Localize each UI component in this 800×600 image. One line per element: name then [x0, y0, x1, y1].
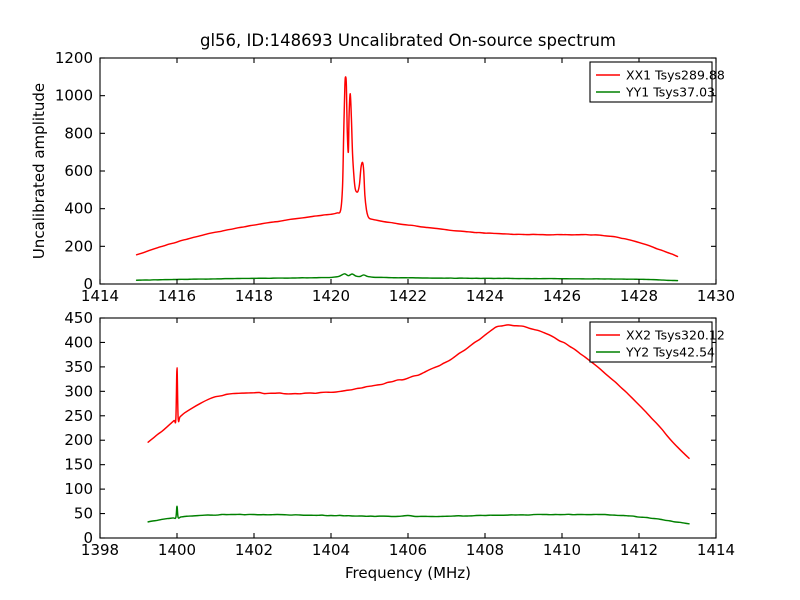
- figure-canvas: 1414141614181420142214241426142814300200…: [0, 0, 800, 600]
- top-panel: 1414141614181420142214241426142814300200…: [30, 31, 735, 305]
- legend-label: XX2 Tsys320.12: [626, 328, 725, 343]
- x-tick-label: 1402: [235, 541, 273, 559]
- x-tick-label: 1422: [389, 287, 427, 305]
- legend-label: YY2 Tsys42.54: [625, 345, 715, 360]
- y-tick-label: 350: [64, 358, 93, 376]
- x-tick-label: 1428: [620, 287, 658, 305]
- y-tick-label: 0: [83, 275, 93, 293]
- y-tick-label: 150: [64, 456, 93, 474]
- chart-title: gl56, ID:148693 Uncalibrated On-source s…: [200, 31, 616, 50]
- top-panel-legend[interactable]: XX1 Tsys289.88YY1 Tsys37.03: [590, 62, 725, 102]
- y-tick-label: 200: [64, 431, 93, 449]
- y-tick-label: 400: [64, 200, 93, 218]
- y-tick-label: 600: [64, 162, 93, 180]
- bottom-panel-series-yy: [148, 506, 689, 524]
- bottom-panel: 1398140014021404140614081410141214140501…: [64, 309, 735, 582]
- y-tick-label: 1200: [55, 49, 93, 67]
- x-tick-label: 1408: [466, 541, 504, 559]
- x-axis-label: Frequency (MHz): [345, 564, 471, 582]
- y-tick-label: 100: [64, 480, 93, 498]
- spectrum-figure: 1414141614181420142214241426142814300200…: [0, 0, 800, 600]
- x-tick-label: 1406: [389, 541, 427, 559]
- legend-label: YY1 Tsys37.03: [625, 85, 715, 100]
- y-tick-label: 200: [64, 237, 93, 255]
- y-tick-label: 250: [64, 407, 93, 425]
- y-tick-label: 800: [64, 124, 93, 142]
- x-tick-label: 1400: [158, 541, 196, 559]
- x-tick-label: 1420: [312, 287, 350, 305]
- top-panel-series-xx: [137, 77, 678, 257]
- y-tick-label: 400: [64, 333, 93, 351]
- legend-label: XX1 Tsys289.88: [626, 68, 725, 83]
- y-tick-label: 300: [64, 382, 93, 400]
- y-tick-label: 0: [83, 529, 93, 547]
- x-tick-label: 1412: [620, 541, 658, 559]
- x-tick-label: 1418: [235, 287, 273, 305]
- y-tick-label: 1000: [55, 87, 93, 105]
- x-tick-label: 1424: [466, 287, 504, 305]
- x-tick-label: 1416: [158, 287, 196, 305]
- top-panel-series-yy: [137, 274, 678, 281]
- bottom-panel-legend[interactable]: XX2 Tsys320.12YY2 Tsys42.54: [590, 322, 725, 362]
- x-tick-label: 1430: [697, 287, 735, 305]
- y-tick-label: 50: [74, 505, 93, 523]
- x-tick-label: 1426: [543, 287, 581, 305]
- x-tick-label: 1414: [697, 541, 735, 559]
- x-tick-label: 1404: [312, 541, 350, 559]
- top-panel-traces: [137, 77, 678, 281]
- y-axis-label: Uncalibrated amplitude: [30, 83, 48, 259]
- y-tick-label: 450: [64, 309, 93, 327]
- x-tick-label: 1410: [543, 541, 581, 559]
